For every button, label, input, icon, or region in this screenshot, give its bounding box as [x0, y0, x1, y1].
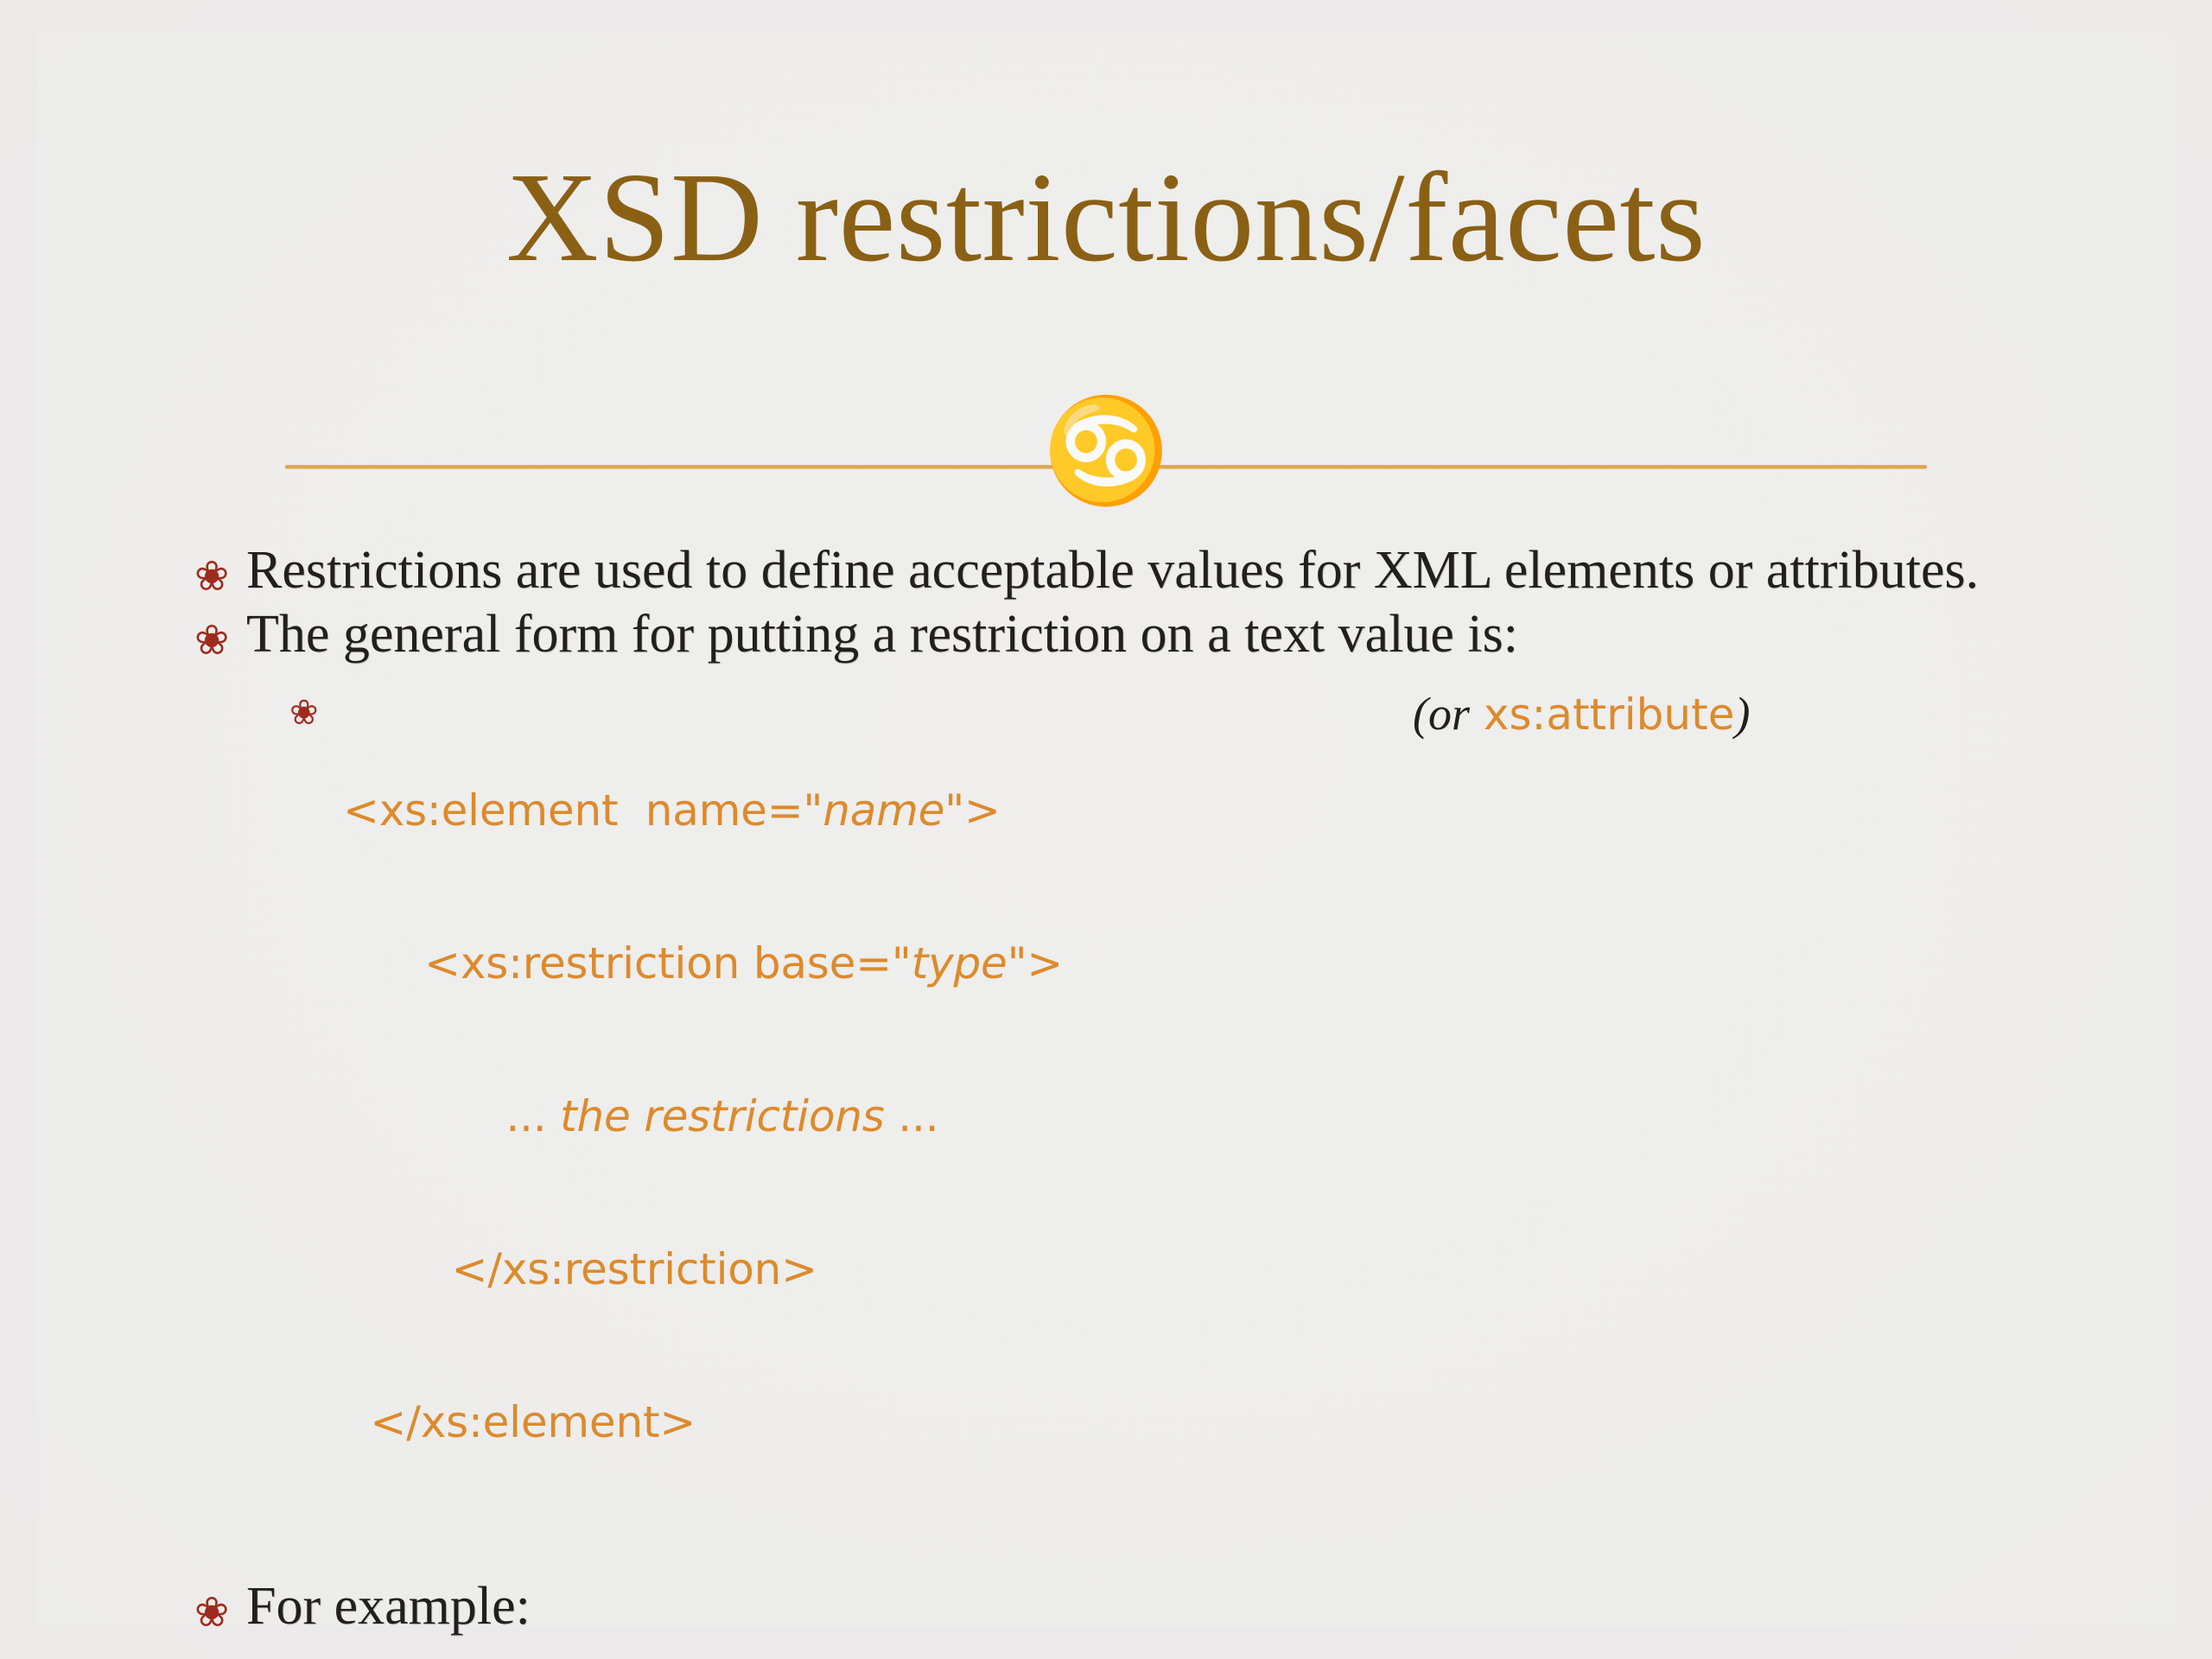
body-content: ❀ Restrictions are used to define accept…: [194, 540, 2082, 1659]
list-item: ❀ Restrictions are used to define accept…: [194, 540, 2082, 602]
bullet-text: The general form for putting a restricti…: [246, 604, 2082, 666]
title-divider: ♋: [285, 432, 1927, 510]
sub-bullet-ornament-icon: ❀: [289, 1656, 343, 1659]
code-block-general-form: <xs:element name="name"> <xs:restriction…: [343, 683, 2082, 1550]
code-list-item: ❀ <xs:element name="name"> <xs:restricti…: [289, 683, 2082, 1550]
bullet-text: Restrictions are used to define acceptab…: [246, 540, 2082, 602]
code-list-item: ❀ <xs:element name="age"> <xs:restrictio…: [289, 1656, 2082, 1659]
page-title: XSD restrictions/facets: [0, 151, 2212, 285]
code-line: <xs:element name="name">: [343, 785, 2082, 836]
divider-ornament-icon: ♋: [1043, 399, 1170, 501]
code-block-example: <xs:element name="age"> <xs:restriction …: [343, 1656, 2082, 1659]
slide-content: XSD restrictions/facets ♋ ❀ Restrictions…: [0, 0, 2212, 1659]
code-line: </xs:restriction>: [343, 1244, 2082, 1295]
code-line: ... the restrictions ...: [343, 1091, 2082, 1142]
bullet-ornament-icon: ❀: [194, 1576, 246, 1633]
attribute-note: (or xs:attribute): [1413, 687, 1750, 742]
code-line: </xs:element>: [343, 1397, 2082, 1448]
list-item: ❀ The general form for putting a restric…: [194, 604, 2082, 666]
slide: XSD restrictions/facets ♋ ❀ Restrictions…: [0, 0, 2212, 1659]
bullet-text: For example:: [246, 1576, 2082, 1638]
code-line: <xs:restriction base="type">: [343, 938, 2082, 989]
bullet-ornament-icon: ❀: [194, 604, 246, 661]
bullet-ornament-icon: ❀: [194, 540, 246, 597]
sub-bullet-ornament-icon: ❀: [289, 683, 343, 730]
note-open-paren: (: [1413, 688, 1428, 740]
list-item: ❀ For example:: [194, 1576, 2082, 1638]
note-or-word: or: [1428, 688, 1470, 740]
note-code: xs:attribute: [1470, 690, 1734, 740]
note-close-paren: ): [1734, 688, 1750, 740]
